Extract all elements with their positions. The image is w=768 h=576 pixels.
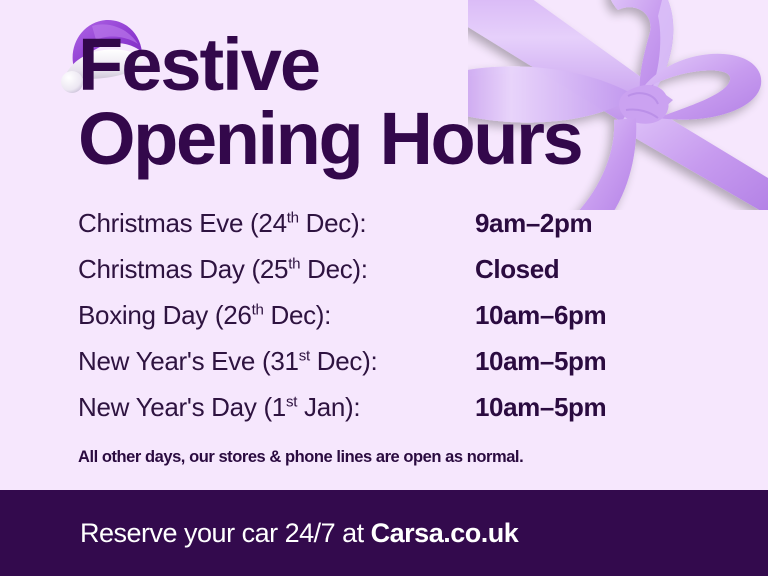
ordinal-suffix: th — [252, 301, 264, 318]
footer-bar: Reserve your car 24/7 at Carsa.co.uk — [0, 490, 768, 576]
hours-row-value: 10am–5pm — [475, 392, 606, 423]
page-title-line-2: Opening Hours — [78, 102, 698, 176]
hours-row-value: Closed — [475, 254, 559, 285]
ordinal-suffix: th — [288, 255, 300, 272]
hours-row-label-pre: Christmas Eve (24 — [78, 208, 287, 238]
page-title-line-1: Festive — [78, 28, 698, 102]
hours-row-value: 9am–2pm — [475, 208, 592, 239]
hours-row-label: Christmas Day (25th Dec): — [78, 254, 475, 285]
table-row: Boxing Day (26th Dec): 10am–6pm — [78, 300, 698, 346]
hours-row-label-post: Dec): — [300, 254, 368, 284]
hours-row-label-pre: Christmas Day (25 — [78, 254, 288, 284]
hours-row-label: New Year's Eve (31st Dec): — [78, 346, 475, 377]
hours-row-label-pre: New Year's Day (1 — [78, 392, 286, 422]
hours-row-label-post: Dec): — [299, 208, 367, 238]
hours-row-label-pre: New Year's Eve (31 — [78, 346, 299, 376]
hours-row-label-post: Dec): — [310, 346, 378, 376]
footer-cta-lead: Reserve your car 24/7 at — [80, 518, 371, 548]
hours-row-value: 10am–6pm — [475, 300, 606, 331]
table-row: Christmas Day (25th Dec): Closed — [78, 254, 698, 300]
page-title: Festive Opening Hours — [78, 28, 698, 176]
ordinal-suffix: th — [287, 209, 299, 226]
festive-opening-hours-poster: Festive Opening Hours Christmas Eve (24t… — [0, 0, 768, 576]
table-row: New Year's Eve (31st Dec): 10am–5pm — [78, 346, 698, 392]
footer-brand-link[interactable]: Carsa.co.uk — [371, 518, 519, 548]
hours-row-label: Boxing Day (26th Dec): — [78, 300, 475, 331]
hours-row-label-post: Dec): — [264, 300, 332, 330]
normal-hours-note: All other days, our stores & phone lines… — [78, 448, 523, 467]
hours-row-label: Christmas Eve (24th Dec): — [78, 208, 475, 239]
ordinal-suffix: st — [299, 347, 310, 364]
hours-row-value: 10am–5pm — [475, 346, 606, 377]
hours-row-label-post: Jan): — [297, 392, 360, 422]
hours-row-label-pre: Boxing Day (26 — [78, 300, 252, 330]
table-row: Christmas Eve (24th Dec): 9am–2pm — [78, 208, 698, 254]
hours-row-label: New Year's Day (1st Jan): — [78, 392, 475, 423]
opening-hours-table: Christmas Eve (24th Dec): 9am–2pm Christ… — [78, 208, 698, 438]
table-row: New Year's Day (1st Jan): 10am–5pm — [78, 392, 698, 438]
footer-cta-text: Reserve your car 24/7 at Carsa.co.uk — [80, 518, 518, 549]
ordinal-suffix: st — [286, 393, 297, 410]
